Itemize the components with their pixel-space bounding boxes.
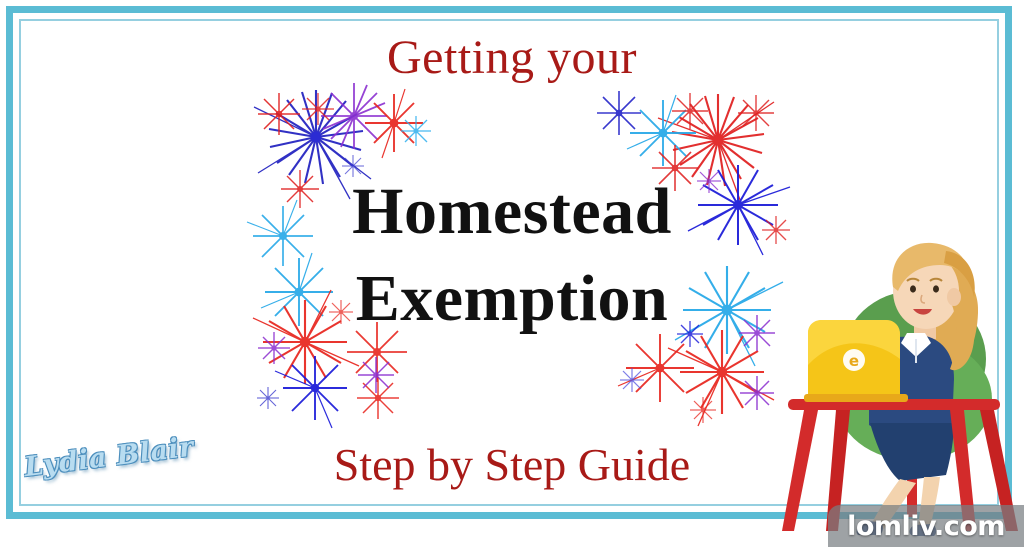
poster-canvas: Getting your Homestead Exemption Step by…	[0, 0, 1024, 547]
site-watermark: lomliv.com	[828, 505, 1024, 547]
lydia-blair-signature-logo: Lydia Blair	[24, 443, 174, 497]
watermark-text: lomliv.com	[847, 511, 1005, 542]
laptop-logo-letter: e	[849, 352, 859, 370]
woman-at-laptop-illustration: e	[774, 239, 1024, 539]
poster-kicker: Getting your	[0, 34, 1024, 82]
